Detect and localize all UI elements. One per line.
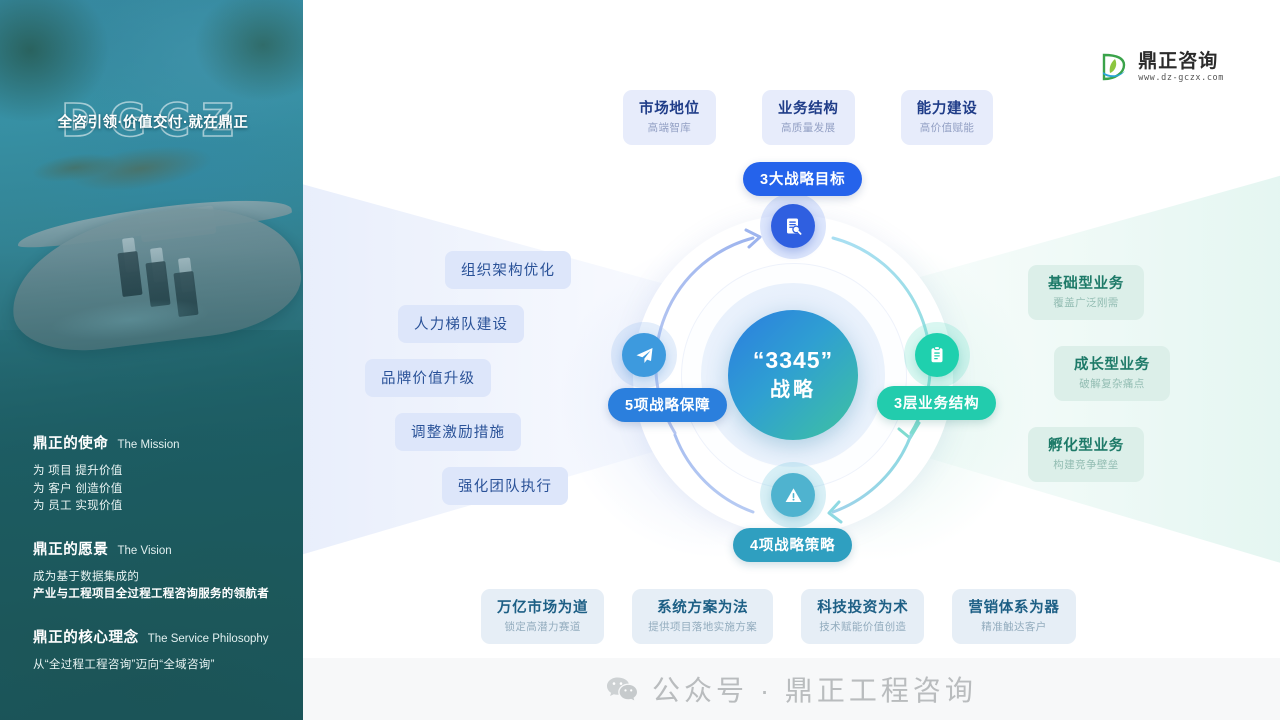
safeguard-chip[interactable]: 强化团队执行 xyxy=(442,467,568,505)
vision-line: 产业与工程项目全过程工程咨询服务的领航者 xyxy=(33,586,283,604)
strategic-goals-row: 市场地位 高端智库 业务结构 高质量发展 能力建设 高价值赋能 xyxy=(623,90,993,145)
goal-card[interactable]: 能力建设 高价值赋能 xyxy=(901,90,994,145)
tactic-card-title: 营销体系为器 xyxy=(968,598,1059,618)
logo-company-name: 鼎正咨询 xyxy=(1138,52,1224,71)
vision-heading: 鼎正的愿景 The Vision xyxy=(33,538,283,559)
business-tier-title: 孵化型业务 xyxy=(1048,436,1124,456)
mission-heading: 鼎正的使命 The Mission xyxy=(33,432,283,453)
philosophy-line: 从“全过程工程咨询”迈向“全域咨询” xyxy=(33,657,283,675)
business-tier-title: 成长型业务 xyxy=(1074,355,1150,375)
footer-account-name: 公众号 · 鼎正工程咨询 xyxy=(652,669,977,709)
mission-block: 鼎正的使命 The Mission 为 项目 提升价值 为 客户 创造价值 为 … xyxy=(33,432,283,516)
tactic-card-title: 科技投资为术 xyxy=(817,598,908,618)
goal-card-sub: 高质量发展 xyxy=(781,120,836,136)
mission-title-cn: 鼎正的使命 xyxy=(33,432,109,453)
tactic-card-title: 系统方案为法 xyxy=(657,598,748,618)
mission-line: 为 项目 提升价值 xyxy=(33,463,283,481)
business-tier-title: 基础型业务 xyxy=(1048,274,1124,294)
goal-card-title: 业务结构 xyxy=(778,99,839,119)
business-tier-sub: 破解复杂痛点 xyxy=(1074,376,1150,392)
pill-business-structure[interactable]: 3层业务结构 xyxy=(877,386,996,420)
document-search-icon xyxy=(771,204,815,248)
safeguard-chip[interactable]: 调整激励措施 xyxy=(395,413,521,451)
brand-slogan: 全咨引领·价值交付·就在鼎正 xyxy=(58,111,249,132)
tactic-card-sub: 锁定高潜力赛道 xyxy=(504,619,580,635)
tactic-card[interactable]: 系统方案为法 提供项目落地实施方案 xyxy=(632,589,773,644)
strategy-hub: “3345” 战略 xyxy=(603,185,983,565)
business-tier-sub: 构建竞争壁垒 xyxy=(1048,457,1124,473)
vision-title-cn: 鼎正的愿景 xyxy=(33,538,109,559)
safeguard-chip[interactable]: 组织架构优化 xyxy=(445,251,571,289)
philosophy-block: 鼎正的核心理念 The Service Philosophy 从“全过程工程咨询… xyxy=(33,626,283,675)
node-business-structure[interactable] xyxy=(915,333,959,377)
paper-plane-icon xyxy=(622,333,666,377)
vision-line: 成为基于数据集成的 xyxy=(33,569,283,587)
tactic-card-sub: 提供项目落地实施方案 xyxy=(648,619,757,635)
goal-card[interactable]: 业务结构 高质量发展 xyxy=(762,90,855,145)
left-hero-panel: DGCZ 全咨引领·价值交付·就在鼎正 鼎正的使命 The Mission 为 … xyxy=(0,0,303,720)
tactic-card-sub: 技术赋能价值创造 xyxy=(819,619,906,635)
footer-bar: 公众号 · 鼎正工程咨询 xyxy=(303,658,1280,720)
core-label-code: “3345” xyxy=(753,346,833,374)
node-strategic-goals[interactable] xyxy=(771,204,815,248)
diagram-canvas: 鼎正咨询 www.dz-gczx.com 市场地位 高端智库 业务结构 高质量发… xyxy=(303,0,1280,720)
goal-card-sub: 高价值赋能 xyxy=(920,120,975,136)
dingzheng-leaf-logo-icon xyxy=(1099,52,1129,82)
core-label-word: 战略 xyxy=(770,376,816,404)
slide-root: DGCZ 全咨引领·价值交付·就在鼎正 鼎正的使命 The Mission 为 … xyxy=(0,0,1280,720)
strategy-core: “3345” 战略 xyxy=(728,310,858,440)
tactic-card-sub: 精准触达客户 xyxy=(981,619,1046,635)
mission-line: 为 客户 创造价值 xyxy=(33,481,283,499)
philosophy-title-cn: 鼎正的核心理念 xyxy=(33,626,139,647)
pill-strategic-goals[interactable]: 3大战略目标 xyxy=(743,162,862,196)
safeguard-chip[interactable]: 人力梯队建设 xyxy=(398,305,524,343)
node-strategic-safeguards[interactable] xyxy=(622,333,666,377)
business-tier-card[interactable]: 成长型业务 破解复杂痛点 xyxy=(1054,346,1170,401)
business-tier-sub: 覆盖广泛刚需 xyxy=(1048,295,1124,311)
sidebar-text-blocks: 鼎正的使命 The Mission 为 项目 提升价值 为 客户 创造价值 为 … xyxy=(33,432,283,696)
goal-card-sub: 高端智库 xyxy=(648,120,692,136)
logo-text: 鼎正咨询 www.dz-gczx.com xyxy=(1138,52,1224,83)
tactic-card[interactable]: 科技投资为术 技术赋能价值创造 xyxy=(801,589,924,644)
business-tier-card[interactable]: 孵化型业务 构建竞争壁垒 xyxy=(1028,427,1144,482)
philosophy-title-en: The Service Philosophy xyxy=(148,633,269,645)
node-strategic-tactics[interactable] xyxy=(771,473,815,517)
business-tier-card[interactable]: 基础型业务 覆盖广泛刚需 xyxy=(1028,265,1144,320)
goal-card[interactable]: 市场地位 高端智库 xyxy=(623,90,716,145)
vision-title-en: The Vision xyxy=(118,545,172,557)
company-logo[interactable]: 鼎正咨询 www.dz-gczx.com xyxy=(1099,52,1224,83)
goal-card-title: 能力建设 xyxy=(917,99,978,119)
mission-line: 为 员工 实现价值 xyxy=(33,498,283,516)
vision-block: 鼎正的愿景 The Vision 成为基于数据集成的 产业与工程项目全过程工程咨… xyxy=(33,538,283,604)
logo-website: www.dz-gczx.com xyxy=(1138,74,1224,83)
strategy-tactics-row: 万亿市场为道 锁定高潜力赛道 系统方案为法 提供项目落地实施方案 科技投资为术 … xyxy=(481,589,1076,644)
tactic-card[interactable]: 万亿市场为道 锁定高潜力赛道 xyxy=(481,589,604,644)
tactic-card[interactable]: 营销体系为器 精准触达客户 xyxy=(952,589,1075,644)
clipboard-icon xyxy=(915,333,959,377)
mission-title-en: The Mission xyxy=(118,439,180,451)
pill-strategic-tactics[interactable]: 4项战略策略 xyxy=(733,528,852,562)
pill-strategic-safeguards[interactable]: 5项战略保障 xyxy=(608,388,727,422)
wechat-icon xyxy=(606,676,638,703)
brand-mark: DGCZ 全咨引领·价值交付·就在鼎正 xyxy=(48,95,258,147)
alert-triangle-icon xyxy=(771,473,815,517)
tactic-card-title: 万亿市场为道 xyxy=(497,598,588,618)
philosophy-heading: 鼎正的核心理念 The Service Philosophy xyxy=(33,626,283,647)
safeguard-chip[interactable]: 品牌价值升级 xyxy=(365,359,491,397)
goal-card-title: 市场地位 xyxy=(639,99,700,119)
